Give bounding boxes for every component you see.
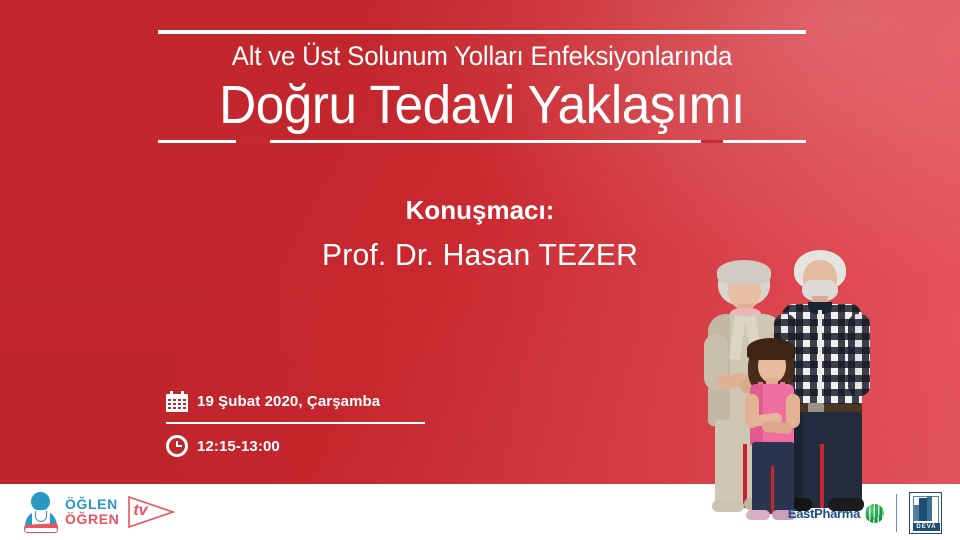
event-time-row: 12:15-13:00 [166,431,466,461]
eastpharma-wordmark: EastPharma [788,506,860,521]
family-photo [690,248,925,510]
calendar-icon [166,391,188,412]
grandfather-shirt-placket [818,310,822,406]
deva-logo-icon[interactable]: DEVA [909,492,942,534]
grandmother-hair-top [717,260,771,284]
clock-icon [166,435,188,457]
title-block: Alt ve Üst Solunum Yolları Enfeksiyonlar… [158,30,806,144]
green-globe-icon [865,504,884,523]
girl-hair-top [747,338,795,360]
brand-line-ogren: ÖĞREN [65,512,119,527]
girl-shoe-left [746,510,770,520]
event-date: 19 Şubat 2020, Çarşamba [197,393,380,410]
sponsor-divider [896,494,897,532]
title-subtitle: Alt ve Üst Solunum Yolları Enfeksiyonlar… [173,34,792,78]
webinar-banner: Alt ve Üst Solunum Yolları Enfeksiyonlar… [0,0,960,540]
grandfather-arm-right [848,314,870,396]
sponsor-logos: EastPharma DEVA [788,492,942,534]
oglen-ogren-wordmark: ÖĞLEN ÖĞREN [65,497,119,527]
eastpharma-logo[interactable]: EastPharma [788,504,884,523]
rule-gap-scedilla [701,137,723,146]
event-time: 12:15-13:00 [197,438,280,455]
brand-line-oglen: ÖĞLEN [65,497,119,512]
play-triangle-icon: tv [127,495,179,529]
brand-badge-tv: tv [133,502,147,520]
rule-gap-gbreve [236,137,270,146]
speaker-label: Konuşmacı: [0,192,960,228]
title-rule-bottom-wrap [158,140,806,144]
girl-jeans-gap [771,466,774,514]
page-title: Doğru Tedavi Yaklaşımı [174,74,790,136]
deva-wordmark: DEVA [913,523,940,531]
event-date-row: 19 Şubat 2020, Çarşamba [166,386,466,416]
doctor-reading-icon [22,491,60,533]
oglen-ogren-tv-logo[interactable]: ÖĞLEN ÖĞREN tv [22,490,179,534]
event-meta: 19 Şubat 2020, Çarşamba 12:15-13:00 [166,386,466,461]
meta-divider [166,422,425,424]
grandmother-shoe-left [712,500,744,512]
